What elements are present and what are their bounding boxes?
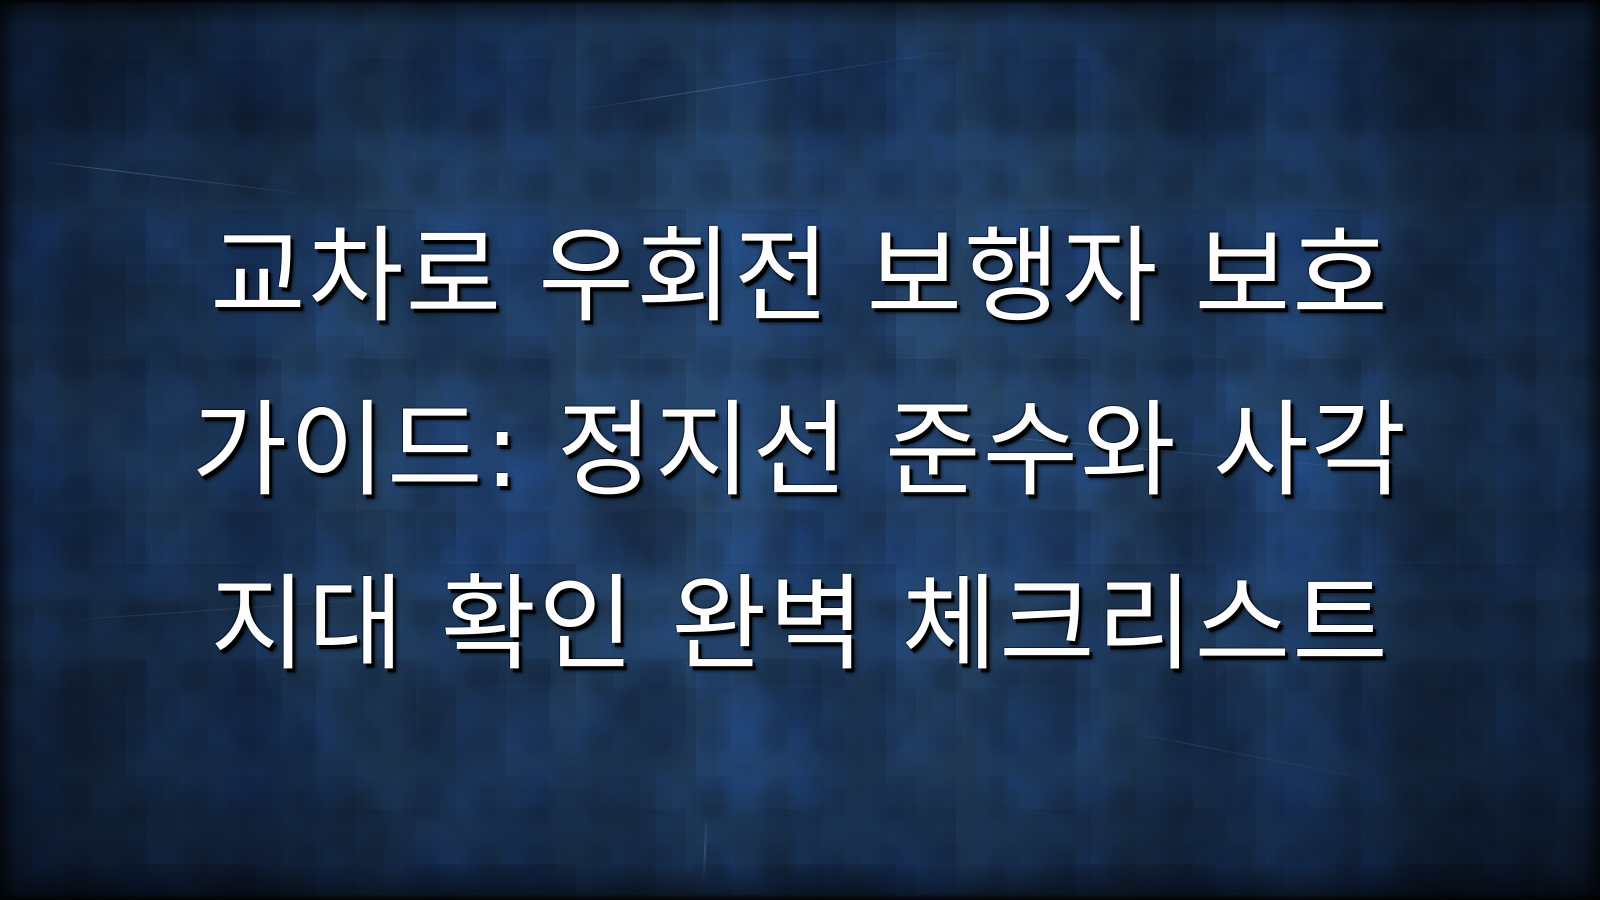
title-line-3: 지대 확인 완벽 체크리스트 <box>210 537 1390 711</box>
page-title: 교차로 우회전 보행자 보호 가이드: 정지선 준수와 사각 지대 확인 완벽 … <box>0 0 1600 900</box>
title-line-2: 가이드: 정지선 준수와 사각 <box>192 363 1409 537</box>
title-line-1: 교차로 우회전 보행자 보호 <box>210 189 1390 363</box>
title-slide: 교차로 우회전 보행자 보호 가이드: 정지선 준수와 사각 지대 확인 완벽 … <box>0 0 1600 900</box>
